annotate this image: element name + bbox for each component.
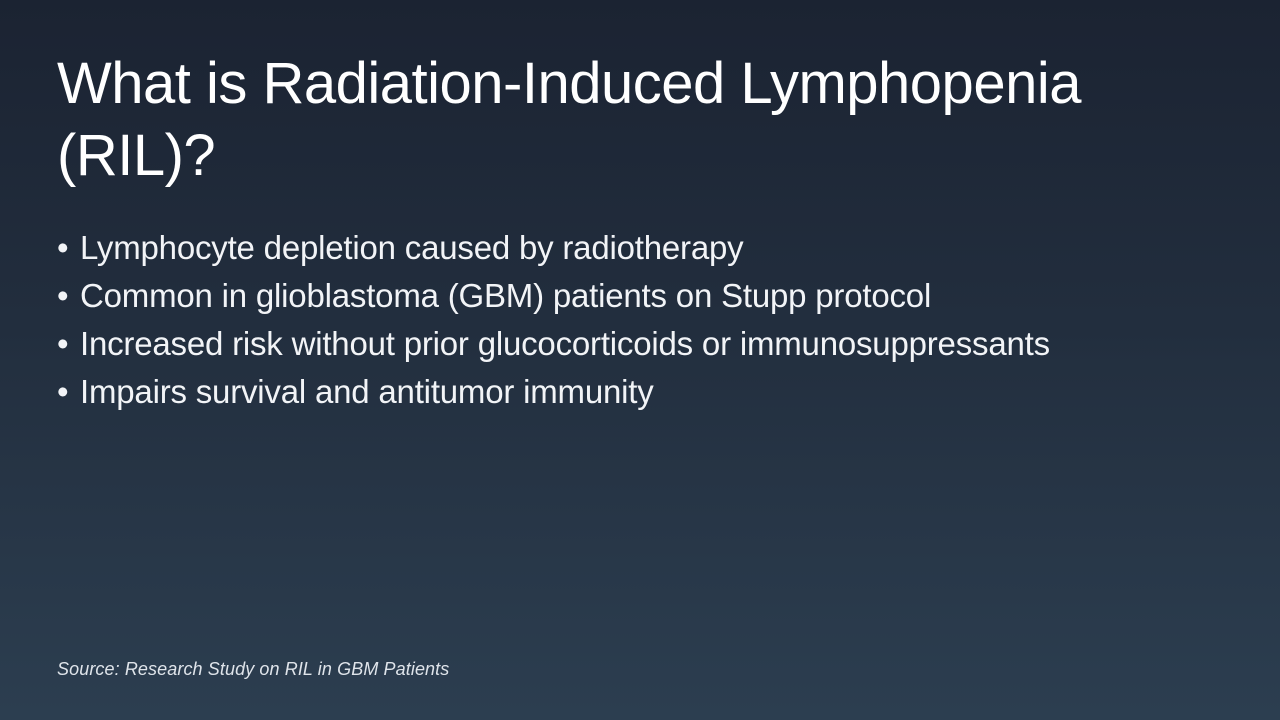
presentation-slide: What is Radiation-Induced Lymphopenia (R… [0,0,1280,720]
bullet-dot-icon: • [57,368,80,416]
list-item-label: Increased risk without prior glucocortic… [80,320,1222,368]
list-item-label: Lymphocyte depletion caused by radiother… [80,224,1222,272]
list-item: • Lymphocyte depletion caused by radioth… [57,224,1222,272]
list-item: • Increased risk without prior glucocort… [57,320,1222,368]
source-caption: Source: Research Study on RIL in GBM Pat… [57,656,449,682]
list-item: • Common in glioblastoma (GBM) patients … [57,272,1222,320]
bullet-dot-icon: • [57,224,80,272]
list-item-label: Common in glioblastoma (GBM) patients on… [80,272,1222,320]
bullet-dot-icon: • [57,272,80,320]
page-title: What is Radiation-Induced Lymphopenia (R… [57,48,1222,192]
bullet-list: • Lymphocyte depletion caused by radioth… [57,224,1222,416]
list-item-label: Impairs survival and antitumor immunity [80,368,1222,416]
list-item: • Impairs survival and antitumor immunit… [57,368,1222,416]
bullet-dot-icon: • [57,320,80,368]
slide-content: What is Radiation-Induced Lymphopenia (R… [57,48,1222,416]
